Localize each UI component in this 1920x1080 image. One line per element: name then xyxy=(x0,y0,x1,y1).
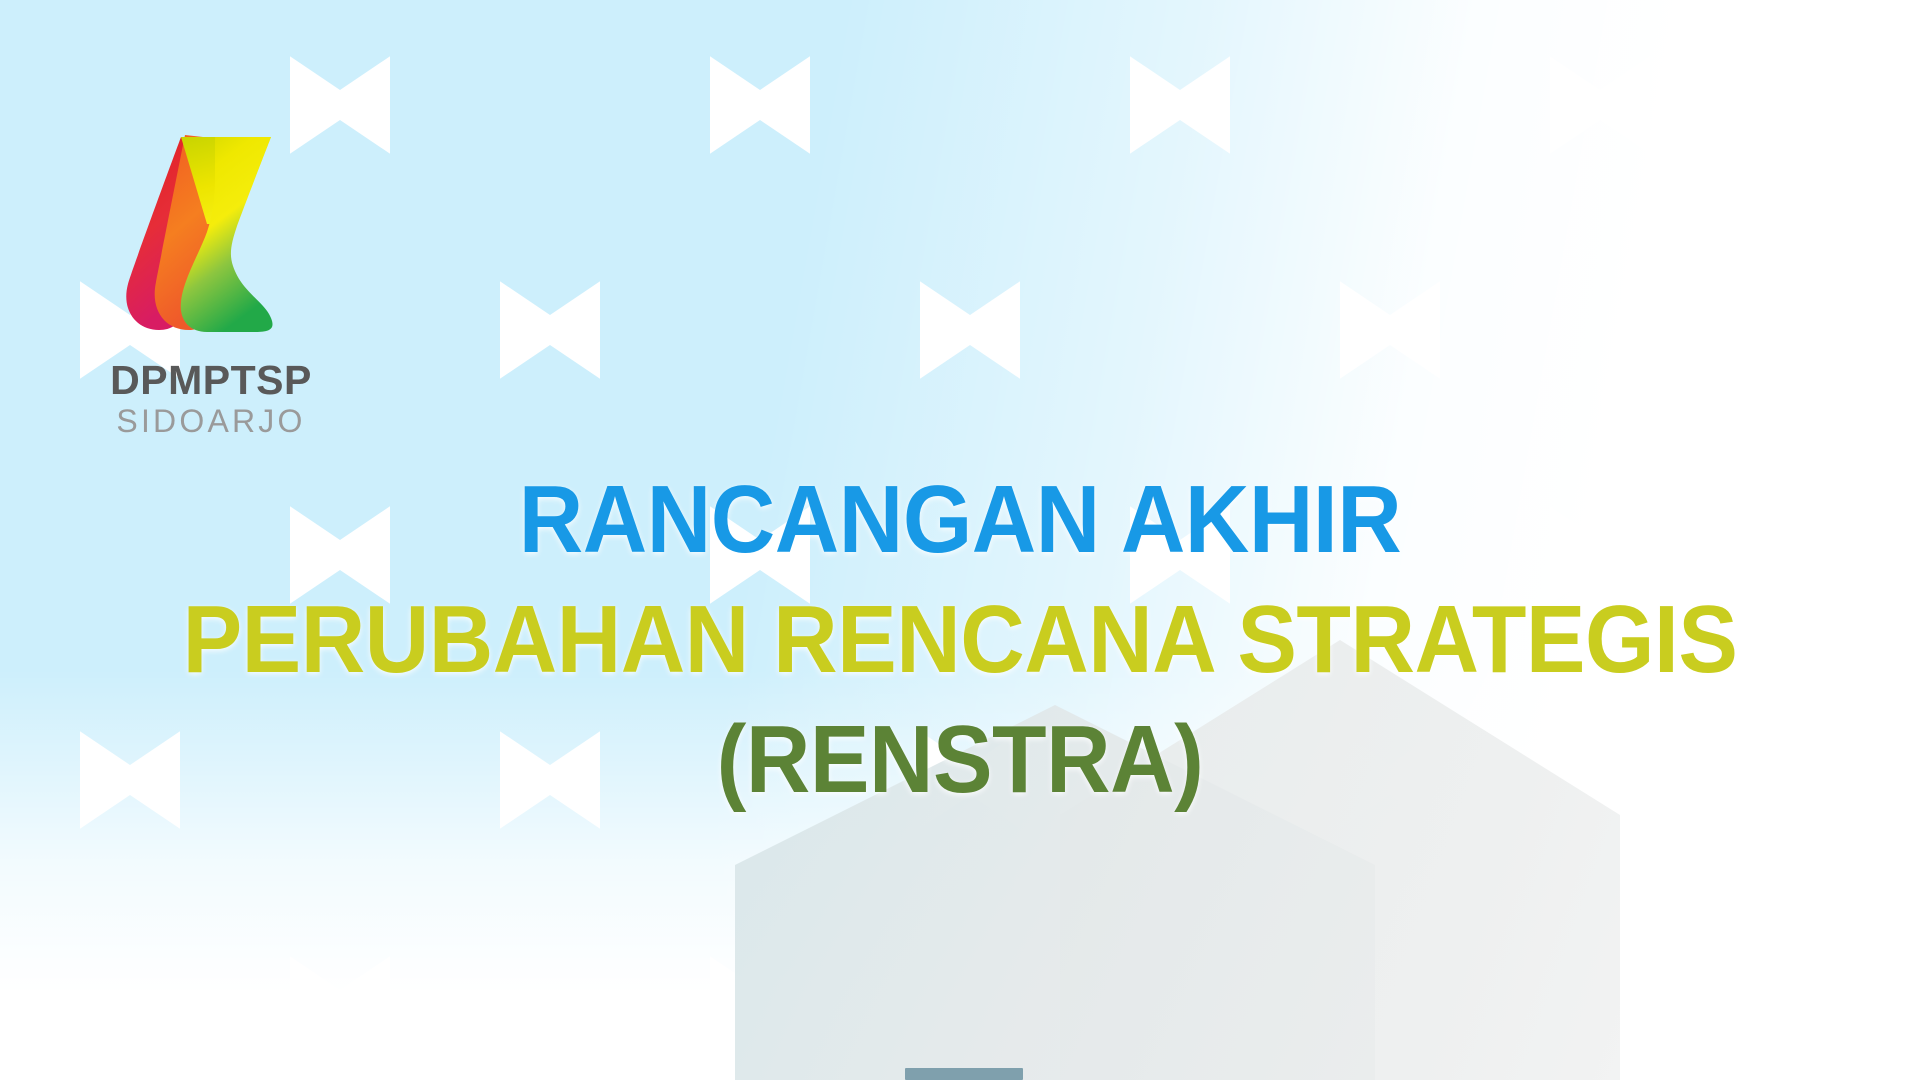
title-slide: DPMPTSP SIDOARJO RANCANGAN AKHIR PERUBAH… xyxy=(0,0,1920,1080)
headline-line-2: PERUBAHAN RENCANA STRATEGIS xyxy=(67,590,1853,690)
slide-headline: RANCANGAN AKHIR PERUBAHAN RENCANA STRATE… xyxy=(0,470,1920,809)
dpmptsp-logo: DPMPTSP SIDOARJO xyxy=(86,104,336,444)
logo-wordmark: DPMPTSP SIDOARJO xyxy=(86,360,336,439)
logo-name-text: DPMPTSP xyxy=(86,360,336,402)
flask-ribbon-logo-icon xyxy=(111,104,311,354)
headline-line-3: (RENSTRA) xyxy=(67,710,1853,810)
logo-subtitle-text: SIDOARJO xyxy=(86,404,336,439)
bottom-accent-bar xyxy=(905,1068,1023,1080)
headline-line-1: RANCANGAN AKHIR xyxy=(67,470,1853,570)
